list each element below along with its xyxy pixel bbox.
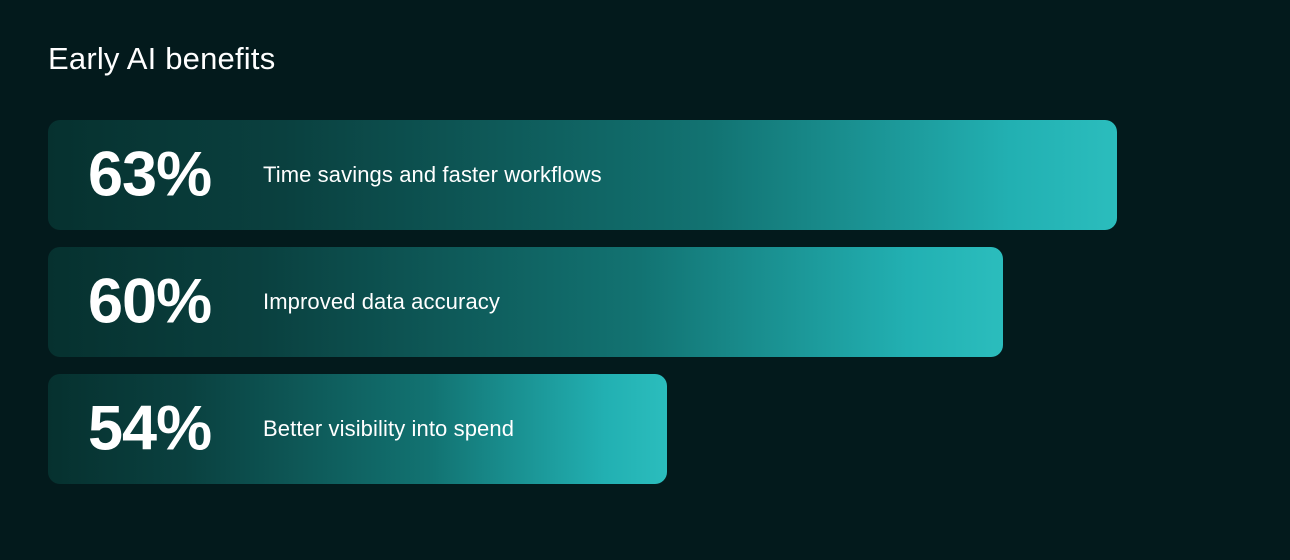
bar-label: Time savings and faster workflows <box>263 162 602 188</box>
bar-row: 60% Improved data accuracy <box>48 247 1003 357</box>
infographic-container: Early AI benefits 63% Time savings and f… <box>0 0 1290 560</box>
bar-value: 60% <box>88 271 211 334</box>
bar-label: Improved data accuracy <box>263 289 500 315</box>
bar-row: 63% Time savings and faster workflows <box>48 120 1117 230</box>
bar-value: 63% <box>88 144 211 207</box>
bar-chart: 63% Time savings and faster workflows 60… <box>48 120 1248 484</box>
bar-row: 54% Better visibility into spend <box>48 374 667 484</box>
bar-value: 54% <box>88 398 211 461</box>
bar-label: Better visibility into spend <box>263 416 514 442</box>
page-title: Early AI benefits <box>48 42 275 76</box>
